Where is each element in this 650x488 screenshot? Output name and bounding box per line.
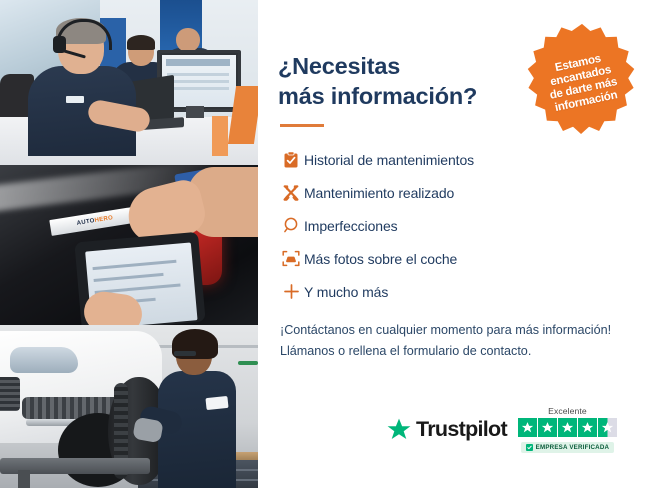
feature-item-mantenimiento: Mantenimiento realizado <box>278 176 628 209</box>
monitor-ui-row <box>167 80 229 83</box>
headline-line-1: ¿Necesitas <box>278 53 400 79</box>
car-grille <box>0 377 20 411</box>
trustpilot-rating[interactable]: Trustpilot Excelente <box>386 406 617 453</box>
ruler-logo-auto: AUTO <box>76 218 95 227</box>
status-badge: EMPRESA VERIFICADA <box>521 442 615 453</box>
trustpilot-wordmark: Trustpilot <box>416 417 507 442</box>
contact-line-2: Llámanos o rellena el formulario de cont… <box>280 344 531 358</box>
call-center-agent-headset-photo <box>0 0 258 165</box>
feature-label: Y mucho más <box>304 284 388 300</box>
page-title: ¿Necesitas más información? <box>278 52 508 111</box>
trustpilot-stars <box>518 418 617 437</box>
badge-text: Estamos encantados de darte más informac… <box>543 51 621 117</box>
trustpilot-star-icon <box>386 417 412 443</box>
mechanic-logo-patch <box>205 396 228 410</box>
star-half <box>598 418 617 437</box>
monitor-ui-row <box>167 87 229 90</box>
photo-column: AUTOHERO <box>0 0 258 488</box>
trustpilot-rating-label: Excelente <box>548 406 587 416</box>
star-filled <box>518 418 537 437</box>
tools-wrench-screwdriver-icon <box>278 184 304 202</box>
title-divider <box>280 124 324 127</box>
plus-icon <box>278 283 304 300</box>
tablet-ui-line <box>93 260 177 270</box>
tablet-ui-line <box>94 273 164 282</box>
workshop-green-hose <box>238 361 258 365</box>
mechanic-wheel-inspection-photo <box>0 325 258 488</box>
check-icon <box>526 444 533 451</box>
star-filled <box>578 418 597 437</box>
monitor-ui-bar <box>166 59 230 66</box>
promo-card: AUTOHERO <box>0 0 650 488</box>
car-lift-post <box>18 470 30 488</box>
feature-label: Mantenimiento realizado <box>304 185 454 201</box>
status-badge-starburst: Estamos encantados de darte más informac… <box>524 22 640 138</box>
star-filled <box>558 418 577 437</box>
headline-line-2: más información? <box>278 83 477 109</box>
monitor-ui-row <box>167 73 229 76</box>
feature-item-imperfecciones: Imperfecciones <box>278 209 628 242</box>
orange-decor-panel <box>212 116 228 156</box>
feature-label: Más fotos sobre el coche <box>304 251 457 267</box>
feature-label: Historial de mantenimientos <box>304 152 474 168</box>
star-filled <box>538 418 557 437</box>
feature-label: Imperfecciones <box>304 218 398 234</box>
trustpilot-logo[interactable]: Trustpilot <box>386 417 507 443</box>
content-panel: ¿Necesitas más información? Historial de… <box>258 0 650 488</box>
feature-item-historial: Historial de mantenimientos <box>278 143 628 176</box>
car-scan-frame-icon <box>278 250 304 267</box>
feature-item-mucho-mas: Y mucho más <box>278 275 628 308</box>
ruler-logo-hero: HERO <box>94 215 113 224</box>
feature-item-fotos: Más fotos sobre el coche <box>278 242 628 275</box>
agent-name-badge <box>66 96 84 103</box>
contact-paragraph: ¡Contáctanos en cualquier momento para m… <box>280 320 628 361</box>
car-headlight <box>10 347 78 373</box>
verified-label: EMPRESA VERIFICADA <box>536 444 610 451</box>
feature-list: Historial de mantenimientos Mantenimient… <box>278 143 628 308</box>
background-colleague-head <box>176 28 200 52</box>
trustpilot-score-block: Excelente <box>518 406 617 453</box>
car-inspection-ruler-tablet-photo: AUTOHERO <box>0 165 258 325</box>
badge-content: Estamos encantados de darte más informac… <box>524 22 640 138</box>
safety-glasses <box>174 351 196 356</box>
second-agent-hair <box>127 35 155 50</box>
contact-line-1: ¡Contáctanos en cualquier momento para m… <box>280 323 611 337</box>
clipboard-check-icon <box>278 151 304 169</box>
magnifier-icon <box>278 217 304 234</box>
monitor-stand <box>186 106 204 118</box>
